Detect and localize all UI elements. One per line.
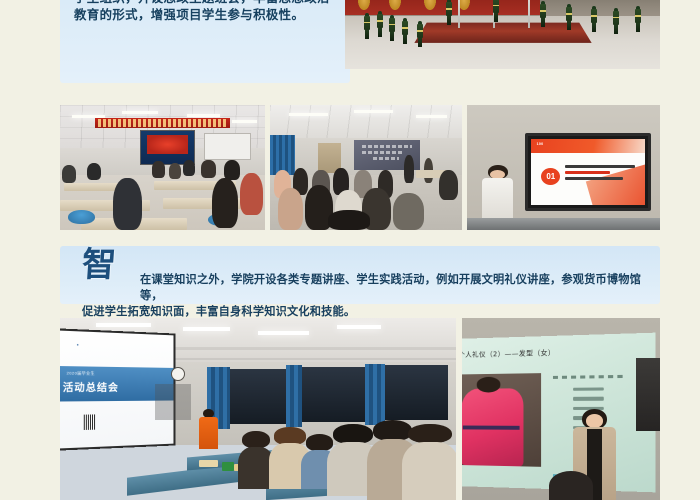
honor-guard-member [446, 0, 452, 21]
slide: 100 01 [531, 139, 645, 206]
student [169, 163, 181, 179]
ceiling-light [289, 113, 327, 116]
student [113, 178, 142, 231]
university-logo: ● [77, 343, 79, 347]
slide-header-band [531, 139, 645, 154]
slide-photo [462, 373, 541, 467]
honor-guard-member [613, 8, 619, 32]
ceiling-light [183, 327, 231, 331]
flag-pole [458, 0, 460, 28]
red-banner [95, 118, 230, 128]
flag-raiser [493, 0, 499, 20]
student [212, 178, 239, 228]
student [87, 163, 101, 181]
student [224, 160, 240, 180]
student [439, 170, 458, 200]
attendee [408, 424, 452, 500]
wisdom-text-panel: 智 在课堂知识之外，学院开设各类专题讲座、学生实践活动，例如开展文明礼仪讲座，参… [60, 246, 660, 304]
photo-graduation-summary-meeting: ● 2020届毕业生 活动总结会 [60, 318, 456, 500]
ceiling-light [96, 323, 151, 327]
student [278, 188, 303, 231]
night-window [302, 367, 365, 422]
honor-guard-member [402, 18, 408, 48]
qr-code [84, 414, 95, 429]
projected-slide: 个人礼仪（2）——发型（女） [462, 333, 656, 493]
ceiling-light [337, 325, 381, 329]
brochure-page: 理论和系统化》、《世界现代史》等思政课程 或讲座，并采用“马工程重点教材”作为思… [0, 0, 700, 500]
attendee [242, 431, 270, 489]
slide-text-lines [565, 165, 638, 183]
chair [68, 210, 95, 224]
wall-clock [171, 367, 185, 381]
student [183, 160, 195, 176]
ceiling-light [187, 114, 220, 117]
ceremony-stage [414, 23, 591, 43]
emblem-icon [358, 0, 370, 10]
night-window [385, 365, 448, 420]
ceiling-light [354, 110, 392, 113]
slide-title: 活动总结会 [63, 379, 119, 395]
student [240, 173, 263, 216]
slide-title: 个人礼仪（2）——发型（女） [462, 348, 555, 360]
snack [199, 460, 219, 467]
whiteboard [204, 133, 251, 160]
ideology-text-panel: 理论和系统化》、《世界现代史》等思政课程 或讲座，并采用“马工程重点教材”作为思… [60, 0, 350, 83]
student [328, 210, 370, 230]
wisdom-line-1: 在课堂知识之外，学院开设各类专题讲座、学生实践活动，例如开展文明礼仪讲座，参观货… [82, 272, 648, 304]
ceiling-light [122, 111, 159, 114]
photo-classroom-banner [60, 105, 265, 230]
honor-guard-member [417, 21, 423, 53]
ceiling-light [258, 331, 309, 335]
window-curtain [286, 365, 302, 427]
honor-guard-member [566, 4, 572, 28]
slide-column-header [553, 375, 625, 379]
window-curtain [365, 364, 385, 426]
honor-guard-member [377, 11, 383, 37]
honor-guard-member [635, 6, 641, 30]
ceiling-light [416, 115, 447, 118]
honor-guard-member [591, 6, 597, 30]
student [201, 160, 215, 178]
student [62, 165, 76, 183]
wisdom-paragraph: 在课堂知识之外，学院开设各类专题讲座、学生实践活动，例如开展文明礼仪讲座，参观货… [82, 272, 648, 320]
slide-subtitle: 2020届毕业生 [67, 370, 95, 376]
photo-english-story-talk: 100 01 [467, 105, 660, 230]
student [393, 193, 424, 231]
audience-silhouette [549, 471, 593, 500]
photo-etiquette-lecture: 个人礼仪（2）——发型（女） [462, 318, 660, 500]
slide-number-badge: 01 [541, 168, 560, 185]
ideology-line-4: 学生组织，开设思政主题班会，丰富思想政治 [74, 0, 338, 7]
student [152, 161, 164, 177]
drink-can [222, 462, 234, 471]
speaker [404, 155, 414, 183]
emblem-icon [389, 0, 401, 10]
side-panel [636, 358, 660, 431]
honor-guard-member [364, 13, 370, 39]
ideology-paragraph: 理论和系统化》、《世界现代史》等思政课程 或讲座，并采用“马工程重点教材”作为思… [74, 0, 338, 24]
slide-logo: 100 [537, 142, 544, 146]
emblem-icon [424, 0, 436, 10]
honor-guard-member [389, 15, 395, 41]
night-window [230, 369, 285, 424]
presenter [482, 165, 513, 223]
flag-pole [528, 0, 530, 28]
speaker-person [199, 409, 219, 449]
red-wall [345, 0, 540, 15]
speaker-jacket [199, 417, 219, 449]
ideology-line-5: 教育的形式，增强项目学生参与积极性。 [74, 7, 338, 24]
wall-display: 100 01 [525, 133, 651, 212]
whiteboard [155, 384, 191, 420]
ceiling-light [232, 120, 257, 123]
honor-guard-member [540, 1, 546, 25]
front-desk [467, 218, 660, 231]
presenter-coat [482, 178, 513, 223]
photo-lecture-hall [270, 105, 462, 230]
photo-flag-ceremony [345, 0, 660, 69]
